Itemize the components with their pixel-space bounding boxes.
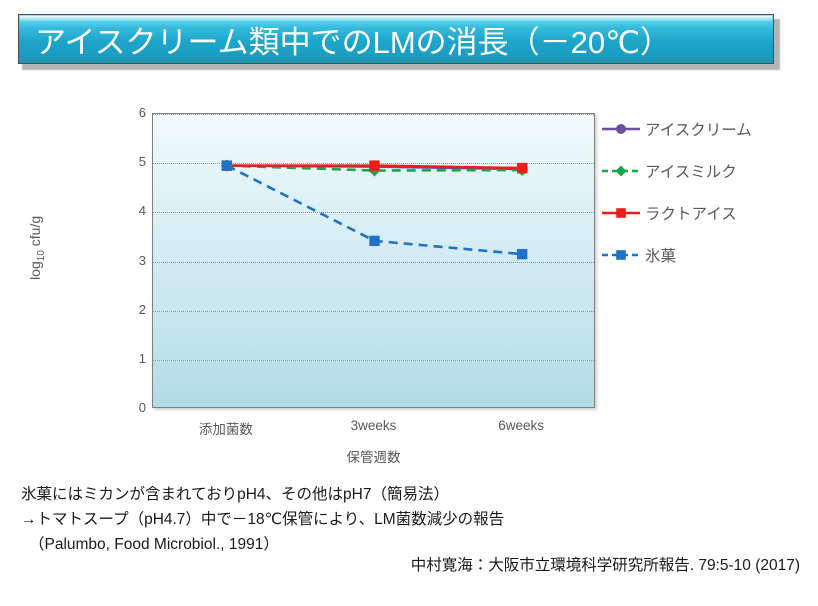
slide-root: アイスクリーム類中でのLMの消長（－20℃） 6543210 log10 cfu… bbox=[0, 0, 818, 606]
data-point bbox=[369, 160, 379, 170]
x-axis-title: 保管週数 bbox=[152, 446, 595, 466]
y-axis-title-subscript: 10 bbox=[36, 250, 47, 261]
citation-text: 中村寛海：大阪市立環境科学研究所報告. 79:5-10 (2017) bbox=[0, 553, 800, 575]
legend-item-氷菓[interactable]: 氷菓 bbox=[601, 234, 816, 276]
caption-line-1: 氷菓にはミカンが含まれておりpH4、その他はpH7（簡易法） bbox=[21, 482, 661, 507]
page-title: アイスクリーム類中でのLMの消長（－20℃） bbox=[19, 17, 671, 62]
title-banner-bar: アイスクリーム類中でのLMの消長（－20℃） bbox=[18, 14, 774, 64]
data-point bbox=[222, 160, 232, 170]
y-axis-tick-label: 0 bbox=[106, 400, 146, 415]
x-axis-tick-label: 6weeks bbox=[451, 418, 591, 433]
x-axis-tick-labels: 添加菌数3weeks6weeks bbox=[152, 418, 595, 440]
y-axis-tick-label: 6 bbox=[106, 105, 146, 120]
chart-legend: アイスクリームアイスミルクラクトアイス氷菓 bbox=[601, 108, 816, 276]
legend-item-アイスミルク[interactable]: アイスミルク bbox=[601, 150, 816, 192]
y-axis-title-rest: cfu/g bbox=[27, 216, 43, 250]
y-axis-title-main: log bbox=[27, 261, 43, 280]
x-axis-tick-label: 3weeks bbox=[304, 418, 444, 433]
legend-item-アイスクリーム[interactable]: アイスクリーム bbox=[601, 108, 816, 150]
data-point bbox=[369, 236, 379, 246]
y-axis-tick-label: 5 bbox=[106, 154, 146, 169]
caption-block: 氷菓にはミカンが含まれておりpH4、その他はpH7（簡易法） →トマトスープ（p… bbox=[21, 482, 661, 557]
x-axis-tick-label: 添加菌数 bbox=[156, 418, 296, 438]
title-banner: アイスクリーム類中でのLMの消長（－20℃） bbox=[18, 14, 780, 70]
legend-key-icon bbox=[601, 246, 641, 264]
legend-key-icon bbox=[601, 162, 641, 180]
plot-area bbox=[152, 113, 595, 408]
series-layer bbox=[153, 114, 596, 409]
legend-item-label: アイスクリーム bbox=[641, 118, 752, 140]
y-axis-title: log10 cfu/g bbox=[27, 163, 47, 333]
data-point bbox=[517, 249, 527, 259]
legend-key-icon bbox=[601, 204, 641, 222]
y-axis-tick-label: 3 bbox=[106, 253, 146, 268]
y-axis-tick-label: 2 bbox=[106, 302, 146, 317]
legend-item-ラクトアイス[interactable]: ラクトアイス bbox=[601, 192, 816, 234]
data-point bbox=[517, 163, 527, 173]
legend-item-label: ラクトアイス bbox=[641, 202, 737, 224]
legend-item-label: アイスミルク bbox=[641, 160, 737, 182]
y-axis-tick-label: 4 bbox=[106, 203, 146, 218]
legend-key-icon bbox=[601, 120, 641, 138]
y-axis-tick-labels: 6543210 bbox=[104, 113, 146, 408]
legend-item-label: 氷菓 bbox=[641, 244, 676, 266]
caption-line-2: →トマトスープ（pH4.7）中で－18℃保管により、LM菌数減少の報告 bbox=[21, 507, 661, 532]
y-axis-tick-label: 1 bbox=[106, 351, 146, 366]
